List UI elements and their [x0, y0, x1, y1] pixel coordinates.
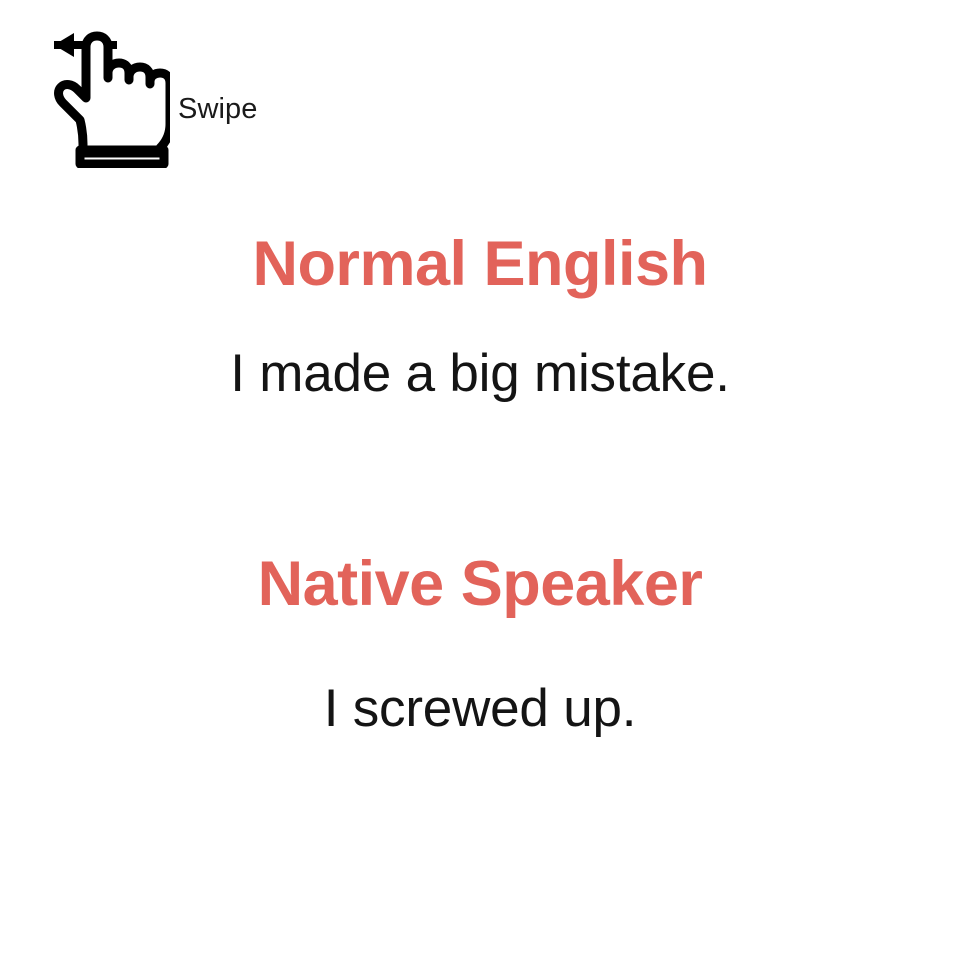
phrase-body: I made a big mistake. [0, 339, 960, 409]
phrase-block-native-speaker: Native Speaker I screwed up. [0, 542, 960, 744]
swipe-hint[interactable]: Swipe [30, 18, 258, 168]
phrase-heading: Native Speaker [0, 542, 960, 626]
phrase-body: I screwed up. [0, 674, 960, 744]
image-canvas: Swipe Normal English I made a big mistak… [0, 0, 960, 954]
swipe-hand-gesture-icon [30, 20, 170, 168]
swipe-label: Swipe [178, 95, 258, 168]
phrase-heading: Normal English [0, 222, 960, 306]
phrase-block-normal-english: Normal English I made a big mistake. [0, 222, 960, 409]
